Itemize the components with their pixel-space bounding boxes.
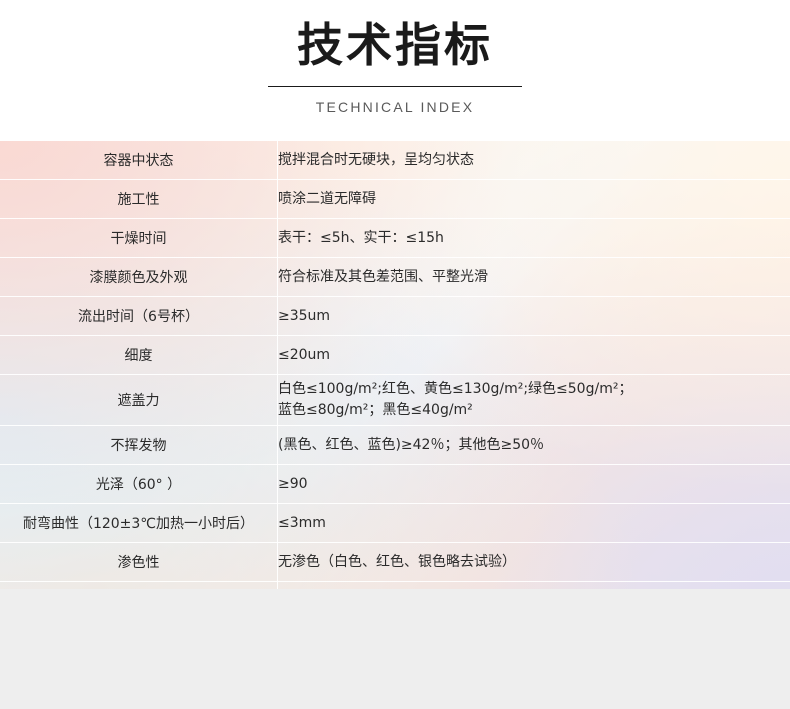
table-row: 耐水性18小时不起泡不开裂、不剥落、允许微发白、浸水后保光率不小于80％: [0, 582, 790, 590]
table-row: 光泽（60° ）≥90: [0, 465, 790, 504]
spec-value-line: 白色≤100g/m²;红色、黄色≤130g/m²;绿色≤50g/m²；: [278, 379, 790, 400]
table-row: 干燥时间表干：≤5h、实干：≤15h: [0, 219, 790, 258]
spec-value-line: 无渗色（白色、红色、银色略去试验）: [278, 552, 790, 573]
spec-value-line: ≤3mm: [278, 513, 790, 534]
spec-label-cell: 施工性: [0, 180, 278, 219]
spec-value-line: ≥35um: [278, 306, 790, 327]
spec-value-cell: (黑色、红色、蓝色)≥42％；其他色≥50％: [278, 426, 790, 465]
spec-value-line: (黑色、红色、蓝色)≥42％；其他色≥50％: [278, 435, 790, 456]
table-row: 容器中状态搅拌混合时无硬块，呈均匀状态: [0, 141, 790, 180]
table-row: 施工性喷涂二道无障碍: [0, 180, 790, 219]
spec-label-cell: 流出时间（6号杯）: [0, 297, 278, 336]
spec-value-line: 喷涂二道无障碍: [278, 189, 790, 210]
table-row: 遮盖力白色≤100g/m²;红色、黄色≤130g/m²;绿色≤50g/m²；蓝色…: [0, 375, 790, 426]
table-row: 流出时间（6号杯）≥35um: [0, 297, 790, 336]
spec-value-cell: 表干：≤5h、实干：≤15h: [278, 219, 790, 258]
spec-table-body: 容器中状态搅拌混合时无硬块，呈均匀状态施工性喷涂二道无障碍干燥时间表干：≤5h、…: [0, 141, 790, 589]
spec-label-cell: 不挥发物: [0, 426, 278, 465]
spec-value-cell: 白色≤100g/m²;红色、黄色≤130g/m²;绿色≤50g/m²；蓝色≤80…: [278, 375, 790, 426]
spec-value-cell: 搅拌混合时无硬块，呈均匀状态: [278, 141, 790, 180]
spec-value-cell: ≤3mm: [278, 504, 790, 543]
table-row: 不挥发物(黑色、红色、蓝色)≥42％；其他色≥50％: [0, 426, 790, 465]
spec-label-cell: 遮盖力: [0, 375, 278, 426]
table-row: 漆膜颜色及外观符合标准及其色差范围、平整光滑: [0, 258, 790, 297]
spec-value-cell: ≥35um: [278, 297, 790, 336]
spec-label-cell: 容器中状态: [0, 141, 278, 180]
spec-value-line: ≤20um: [278, 345, 790, 366]
spec-value-line: ≥90: [278, 474, 790, 495]
spec-value-cell: 符合标准及其色差范围、平整光滑: [278, 258, 790, 297]
page-subtitle: TECHNICAL INDEX: [0, 96, 790, 118]
spec-label-cell: 漆膜颜色及外观: [0, 258, 278, 297]
spec-value-cell: ≥90: [278, 465, 790, 504]
spec-label-cell: 耐弯曲性（120±3℃加热一小时后）: [0, 504, 278, 543]
spec-value-line: 蓝色≤80g/m²；黑色≤40g/m²: [278, 400, 790, 421]
spec-value-cell: 喷涂二道无障碍: [278, 180, 790, 219]
table-row: 耐弯曲性（120±3℃加热一小时后）≤3mm: [0, 504, 790, 543]
spec-value-cell: ≤20um: [278, 336, 790, 375]
spec-label-cell: 耐水性: [0, 582, 278, 590]
table-row: 渗色性无渗色（白色、红色、银色略去试验）: [0, 543, 790, 582]
spec-value-line: 表干：≤5h、实干：≤15h: [278, 228, 790, 249]
spec-value-cell: 无渗色（白色、红色、银色略去试验）: [278, 543, 790, 582]
spec-label-cell: 干燥时间: [0, 219, 278, 258]
spec-label-cell: 渗色性: [0, 543, 278, 582]
page-footer-space: [0, 589, 790, 709]
table-row: 细度≤20um: [0, 336, 790, 375]
page-header: 技术指标 TECHNICAL INDEX: [0, 0, 790, 141]
page-title: 技术指标: [0, 16, 790, 74]
spec-label-cell: 光泽（60° ）: [0, 465, 278, 504]
spec-value-line: 搅拌混合时无硬块，呈均匀状态: [278, 150, 790, 171]
title-divider: [268, 86, 522, 87]
technical-index-table: 容器中状态搅拌混合时无硬块，呈均匀状态施工性喷涂二道无障碍干燥时间表干：≤5h、…: [0, 141, 790, 589]
spec-value-line: 符合标准及其色差范围、平整光滑: [278, 267, 790, 288]
spec-value-cell: 18小时不起泡不开裂、不剥落、允许微发白、浸水后保光率不小于80％: [278, 582, 790, 590]
spec-table-container: 容器中状态搅拌混合时无硬块，呈均匀状态施工性喷涂二道无障碍干燥时间表干：≤5h、…: [0, 141, 790, 589]
spec-label-cell: 细度: [0, 336, 278, 375]
